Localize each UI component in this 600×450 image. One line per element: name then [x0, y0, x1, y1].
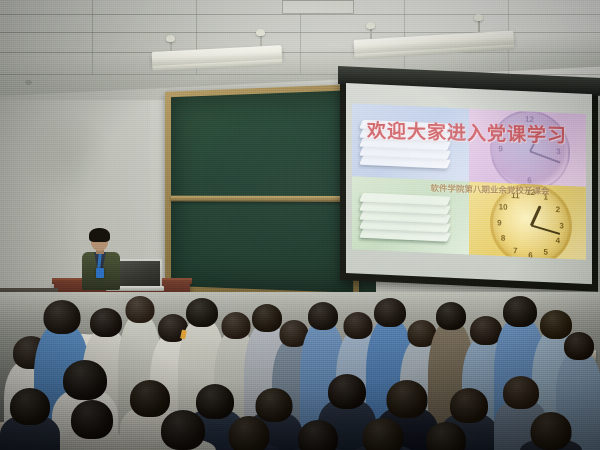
student	[60, 400, 124, 450]
slide-title: 欢迎大家进入党课学习	[351, 116, 584, 149]
student-head	[503, 376, 539, 409]
student-head	[229, 416, 270, 450]
student	[218, 416, 280, 450]
student-head	[328, 374, 366, 409]
fluorescent-light-left	[152, 52, 282, 67]
student-head	[426, 422, 466, 450]
student-head	[63, 360, 107, 400]
screen-surface: 12 3 6 9 12	[346, 83, 592, 284]
stacked-books-icon	[361, 193, 452, 239]
student-head	[531, 412, 572, 450]
student-head	[298, 420, 338, 450]
audience-seating	[0, 292, 600, 450]
student	[150, 410, 216, 450]
presenter-id-badge	[96, 268, 104, 278]
chalk-rail	[171, 196, 353, 202]
wall-smudge	[22, 112, 112, 202]
student	[0, 388, 60, 450]
student-head	[44, 300, 81, 334]
student	[352, 418, 414, 450]
presenter-hair	[89, 228, 110, 242]
blackboard-surface	[171, 90, 353, 293]
projection-screen[interactable]: 12 3 6 9 12	[338, 66, 600, 288]
student-head	[387, 380, 428, 418]
student-head	[71, 400, 113, 439]
student-head	[308, 302, 338, 330]
student-head	[363, 418, 404, 450]
blackboard	[165, 84, 359, 300]
presenter	[78, 228, 124, 288]
student-head	[450, 388, 488, 423]
student-head	[564, 332, 594, 360]
student	[416, 422, 476, 450]
student-head	[10, 388, 50, 425]
student-head	[161, 410, 205, 450]
student	[520, 412, 582, 450]
lecture-hall-photo: 12 3 6 9 12	[0, 0, 600, 450]
fluorescent-light-right	[354, 40, 514, 55]
student	[288, 420, 348, 450]
ceiling-vent-icon	[282, 0, 354, 14]
smoke-detector-icon	[25, 80, 32, 85]
